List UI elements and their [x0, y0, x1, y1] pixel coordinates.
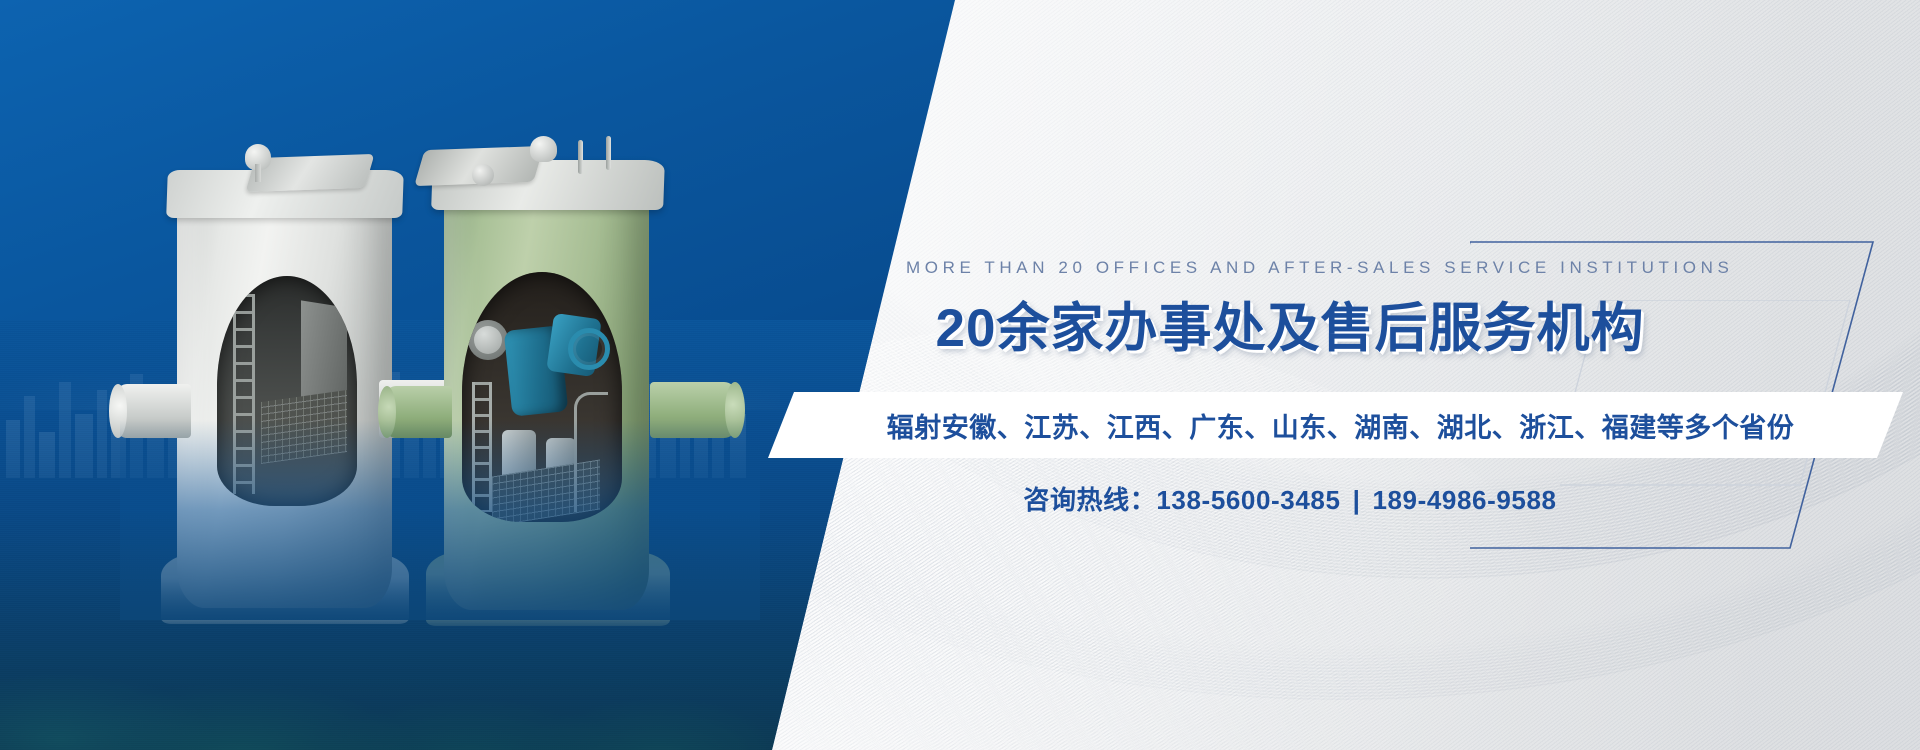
- green-unit-ladder: [472, 382, 492, 512]
- province-coverage-bar: 辐射安徽、江苏、江西、广东、山东、湖南、湖北、浙江、福建等多个省份: [768, 392, 1903, 458]
- gray-pump-station-product: [155, 148, 415, 618]
- green-unit-pipe-flange: [468, 320, 508, 360]
- green-unit-inlet-pipe: [386, 386, 452, 438]
- green-unit-antenna-pin-2: [606, 136, 611, 170]
- green-pump-station-product: [410, 134, 690, 624]
- gray-unit-cutaway-window: [217, 276, 357, 506]
- green-unit-antenna-pin-1: [578, 140, 583, 174]
- green-unit-vent-cap: [530, 136, 557, 162]
- green-unit-vent-cap-secondary: [472, 164, 494, 186]
- page-title: 20余家办事处及售后服务机构: [900, 286, 1680, 362]
- province-coverage-text: 辐射安徽、江苏、江西、广东、山东、湖南、湖北、浙江、福建等多个省份: [768, 392, 1903, 458]
- gray-unit-vent-cap: [245, 144, 271, 170]
- hotline-separator: |: [1341, 485, 1373, 515]
- green-unit-handwheel: [568, 328, 610, 370]
- gray-unit-grate: [261, 390, 347, 464]
- gray-unit-ladder: [233, 294, 255, 494]
- hotline-row: 咨询热线：138-5600-3485|189-4986-9588: [900, 480, 1680, 517]
- green-unit-cutaway-window: [462, 272, 622, 522]
- gray-unit-inlet-pipe: [117, 384, 191, 438]
- green-unit-outlet-pipe: [650, 382, 736, 438]
- product-render-group: [120, 120, 760, 620]
- hotline-primary-number[interactable]: 138-5600-3485: [1156, 485, 1340, 515]
- headline-block: MORE THAN 20 OFFICES AND AFTER-SALES SER…: [900, 258, 1680, 362]
- eyebrow-english-text: MORE THAN 20 OFFICES AND AFTER-SALES SER…: [906, 258, 1680, 278]
- green-unit-guard-rail: [574, 392, 608, 512]
- promo-banner: MORE THAN 20 OFFICES AND AFTER-SALES SER…: [0, 0, 1920, 750]
- hotline-label: 咨询热线：: [1023, 485, 1156, 515]
- hotline-secondary-number[interactable]: 189-4986-9588: [1372, 485, 1556, 515]
